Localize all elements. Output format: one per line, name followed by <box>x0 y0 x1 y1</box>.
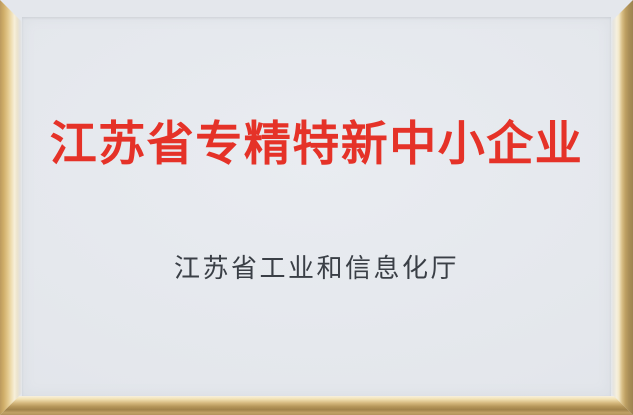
frame-right-edge <box>611 0 633 415</box>
frame-left-edge <box>0 0 22 415</box>
plaque-title: 江苏省专精特新中小企业 <box>22 118 611 170</box>
award-plaque: 江苏省专精特新中小企业 江苏省工业和信息化厅 <box>0 0 633 415</box>
plaque-issuing-authority: 江苏省工业和信息化厅 <box>22 253 611 284</box>
frame-top-edge <box>0 0 633 17</box>
frame-bottom-edge <box>0 396 633 415</box>
plaque-panel: 江苏省专精特新中小企业 江苏省工业和信息化厅 <box>22 17 611 396</box>
